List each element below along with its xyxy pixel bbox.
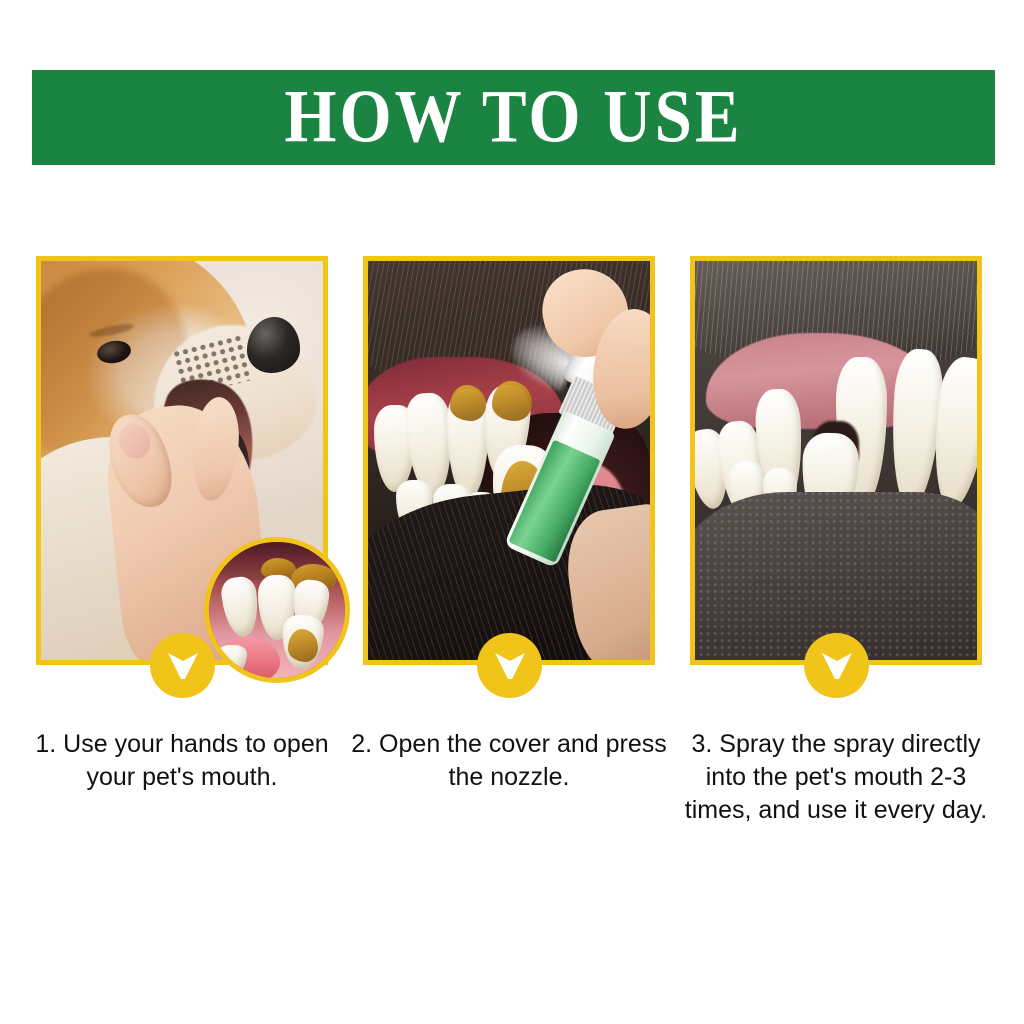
step-2-chevron-badge <box>477 633 542 698</box>
inset-tooth-left <box>219 575 261 639</box>
chevron-down-icon <box>820 651 854 681</box>
step-2-photo-frame <box>363 256 655 665</box>
step-3-photo <box>695 261 977 660</box>
step-2: 2. Open the cover and press the nozzle. <box>363 256 655 665</box>
step-3-photo-frame <box>690 256 982 665</box>
step-1-chevron-badge <box>150 633 215 698</box>
infographic-page: HOW TO USE <box>0 0 1024 1024</box>
steps-row: 1. Use your hands to open your pet's mou… <box>0 256 1024 896</box>
step-2-photo <box>368 261 650 660</box>
chevron-down-icon <box>493 651 527 681</box>
step-2-caption: 2. Open the cover and press the nozzle. <box>349 728 669 794</box>
step-1: 1. Use your hands to open your pet's mou… <box>36 256 328 665</box>
chevron-down-icon <box>166 651 200 681</box>
step-3-chevron-badge <box>804 633 869 698</box>
header-banner: HOW TO USE <box>32 70 995 165</box>
step-1-caption: 1. Use your hands to open your pet's mou… <box>22 728 342 794</box>
step-3: 3. Spray the spray directly into the pet… <box>690 256 982 665</box>
inset-tartar-lower <box>288 629 318 662</box>
step-3-caption: 3. Spray the spray directly into the pet… <box>676 728 996 827</box>
tartar-upper-2 <box>492 381 531 421</box>
page-title: HOW TO USE <box>284 80 742 155</box>
teeth-magnifier-inset <box>204 537 350 683</box>
dog-nose <box>247 317 301 373</box>
inset-scene <box>209 542 345 678</box>
